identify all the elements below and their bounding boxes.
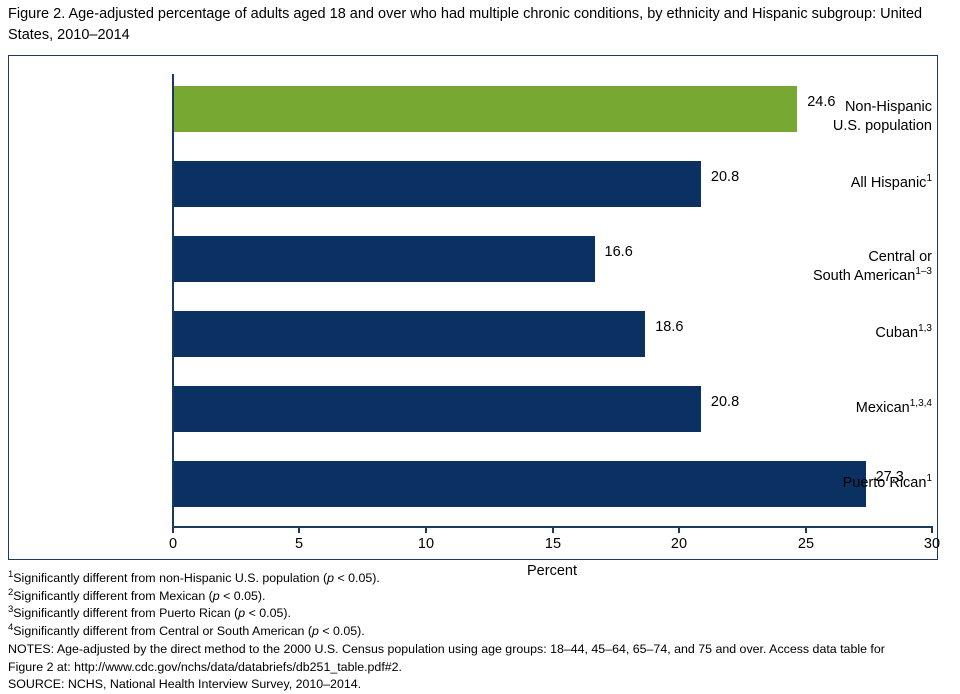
footnote-3: 3Significantly different from Puerto Ric… bbox=[8, 605, 952, 623]
category-footnote-mark: 1–3 bbox=[915, 266, 932, 277]
footnote-p-italic: p bbox=[213, 589, 220, 603]
footnote-text-end: < 0.05). bbox=[319, 624, 365, 638]
x-tick-label: 25 bbox=[786, 536, 826, 552]
category-footnote-mark: 1 bbox=[926, 473, 932, 484]
footnote-p-italic: p bbox=[312, 624, 319, 638]
bar-non-hispanic-us-population[interactable] bbox=[174, 86, 797, 132]
category-label-puerto-rican: Puerto Rican1 bbox=[772, 474, 932, 493]
x-tick-10 bbox=[425, 526, 427, 533]
bar-value-label: 20.8 bbox=[711, 394, 739, 410]
footnote-text: Significantly different from Puerto Rica… bbox=[13, 606, 238, 620]
category-label-line1: Cuban bbox=[875, 325, 918, 341]
category-label-central-or-south-american: Central or South American1–3 bbox=[772, 248, 932, 286]
chart-frame: 24.6 20.8 16.6 18.6 20.8 27.3 Non-Hispan… bbox=[8, 55, 938, 560]
bar-cuban[interactable] bbox=[174, 311, 645, 357]
footnote-1: 1Significantly different from non-Hispan… bbox=[8, 570, 952, 588]
y-axis-line bbox=[172, 74, 174, 526]
category-label-non-hispanic-us-population: Non-Hispanic U.S. population bbox=[772, 98, 932, 136]
category-label-line1: Mexican bbox=[856, 400, 910, 416]
bar-value-label: 18.6 bbox=[655, 319, 683, 335]
bar-puerto-rican[interactable] bbox=[174, 461, 866, 507]
bar-central-or-south-american[interactable] bbox=[174, 236, 595, 282]
footnote-text-end: < 0.05). bbox=[245, 606, 291, 620]
bar-value-label: 16.6 bbox=[605, 244, 633, 260]
x-tick-25 bbox=[805, 526, 807, 533]
footnote-p-italic: p bbox=[327, 571, 334, 585]
category-label-cuban: Cuban1,3 bbox=[772, 324, 932, 343]
x-tick-label: 10 bbox=[406, 536, 446, 552]
notes-line-2: Figure 2 at: http://www.cdc.gov/nchs/dat… bbox=[8, 659, 952, 677]
category-footnote-mark: 1 bbox=[926, 173, 932, 184]
x-tick-30 bbox=[931, 526, 933, 533]
x-tick-label: 30 bbox=[912, 536, 952, 552]
footnote-text: Significantly different from Central or … bbox=[13, 624, 312, 638]
bar-mexican[interactable] bbox=[174, 386, 701, 432]
category-label-line1: All Hispanic bbox=[851, 175, 927, 191]
category-footnote-mark: 1,3 bbox=[918, 323, 932, 334]
x-tick-5 bbox=[298, 526, 300, 533]
footnote-text-end: < 0.05). bbox=[220, 589, 266, 603]
x-tick-label: 0 bbox=[153, 536, 193, 552]
page-title: Figure 2. Age-adjusted percentage of adu… bbox=[8, 4, 952, 46]
x-tick-label: 5 bbox=[279, 536, 319, 552]
x-tick-label: 15 bbox=[533, 536, 573, 552]
x-tick-15 bbox=[552, 526, 554, 533]
category-label-line1: Central or bbox=[868, 249, 932, 265]
x-tick-0 bbox=[172, 526, 174, 533]
category-label-line2: South American bbox=[813, 268, 915, 284]
category-label-line1: Puerto Rican bbox=[843, 475, 927, 491]
footnotes-block: 1Significantly different from non-Hispan… bbox=[8, 570, 952, 694]
bar-value-label: 20.8 bbox=[711, 169, 739, 185]
category-footnote-mark: 1,3,4 bbox=[910, 398, 932, 409]
category-label-mexican: Mexican1,3,4 bbox=[772, 399, 932, 418]
x-tick-label: 20 bbox=[659, 536, 699, 552]
notes-line-1: NOTES: Age-adjusted by the direct method… bbox=[8, 641, 952, 659]
footnote-text: Significantly different from non-Hispani… bbox=[13, 571, 327, 585]
category-label-line2: U.S. population bbox=[833, 118, 932, 134]
footnote-text-end: < 0.05). bbox=[334, 571, 380, 585]
category-label-all-hispanic: All Hispanic1 bbox=[772, 174, 932, 193]
footnote-2: 2Significantly different from Mexican (p… bbox=[8, 588, 952, 606]
category-label-line1: Non-Hispanic bbox=[845, 99, 932, 115]
figure-page: Figure 2. Age-adjusted percentage of adu… bbox=[0, 0, 960, 691]
bar-all-hispanic[interactable] bbox=[174, 161, 701, 207]
x-tick-20 bbox=[678, 526, 680, 533]
footnote-4: 4Significantly different from Central or… bbox=[8, 623, 952, 641]
footnote-text: Significantly different from Mexican ( bbox=[13, 589, 212, 603]
plot-area: 24.6 20.8 16.6 18.6 20.8 27.3 Non-Hispan… bbox=[172, 74, 932, 526]
